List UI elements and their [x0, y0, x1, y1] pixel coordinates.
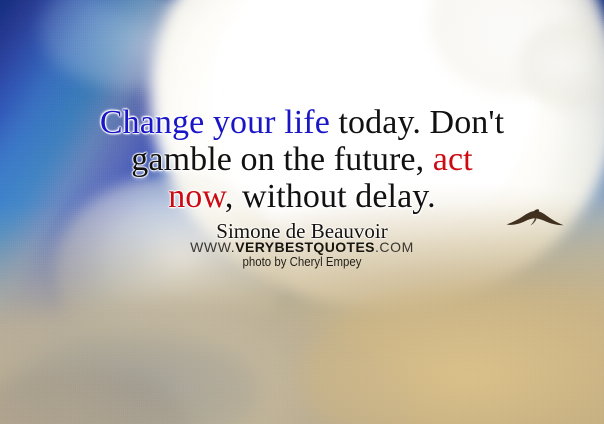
website-url: WWW.VERYBESTQUOTES.COM: [0, 239, 604, 255]
website-url-name: VERYBESTQUOTES: [235, 239, 375, 255]
quote-line-2-plain: gamble on the future,: [131, 141, 433, 178]
quote-line-1-blue: Change your life: [100, 104, 330, 141]
quote-line-3-red: now: [168, 178, 225, 215]
quote-line-1: Change your life today. Don't: [0, 104, 604, 141]
photo-credit: photo by Cheryl Empey: [36, 254, 568, 269]
website-url-suffix: .COM: [375, 239, 414, 255]
quote-image: Change your life today. Don't gamble on …: [0, 0, 604, 424]
quote-text-block: Change your life today. Don't gamble on …: [0, 104, 604, 215]
quote-line-2: gamble on the future, act: [0, 141, 604, 178]
quote-line-2-red: act: [433, 141, 473, 178]
quote-line-3: now, without delay.: [0, 178, 604, 215]
website-url-prefix: WWW.: [190, 239, 235, 255]
quote-line-1-plain: today. Don't: [330, 104, 504, 141]
quote-line-3-plain: , without delay.: [225, 178, 436, 215]
